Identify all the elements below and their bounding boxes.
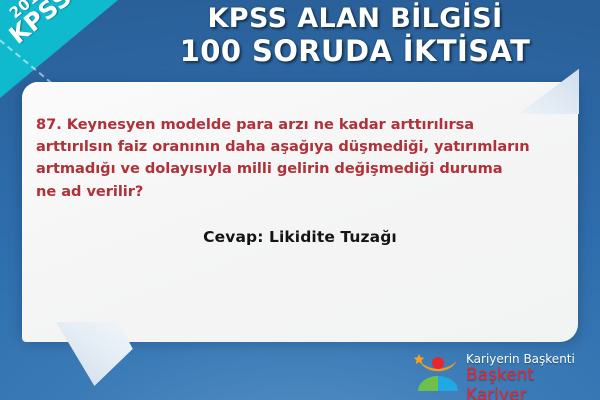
question-line-4: ne ad verilir? [36, 181, 556, 203]
question-text: 87.Keynesyen modelde para arzı ne kadar … [36, 114, 556, 203]
star-icon [414, 354, 425, 364]
answer-text: Cevap: Likidite Tuzağı [22, 228, 578, 246]
slide-canvas: 2014 KPSS KPSS ALAN BİLGİSİ 100 SORUDA İ… [0, 0, 600, 400]
brand-logo[interactable]: Kariyerin Başkenti Başkent Kariyer [412, 350, 588, 394]
question-line-2: arttırılsın faiz oranının daha aşağıya d… [36, 136, 556, 158]
question-number: 87. [36, 116, 62, 133]
question-card: 87.Keynesyen modelde para arzı ne kadar … [22, 82, 578, 342]
person-arc-left-icon [418, 376, 438, 391]
sun-dot-icon [432, 357, 444, 369]
card-content: 87.Keynesyen modelde para arzı ne kadar … [22, 82, 578, 342]
page-title-line-2: 100 SORUDA İKTİSAT [120, 35, 590, 67]
logo-text: Kariyerin Başkenti Başkent Kariyer [466, 352, 590, 400]
page-title: KPSS ALAN BİLGİSİ 100 SORUDA İKTİSAT [120, 4, 590, 68]
question-line-1: 87.Keynesyen modelde para arzı ne kadar … [36, 114, 556, 136]
question-line-1-text: Keynesyen modelde para arzı ne kadar art… [67, 116, 474, 133]
logo-mark-icon [412, 351, 464, 393]
logo-brand: Başkent Kariyer [466, 366, 590, 400]
question-line-3: artmadığı ve dolayısıyla milli gelirin d… [36, 158, 556, 180]
page-title-line-1: KPSS ALAN BİLGİSİ [120, 4, 590, 34]
